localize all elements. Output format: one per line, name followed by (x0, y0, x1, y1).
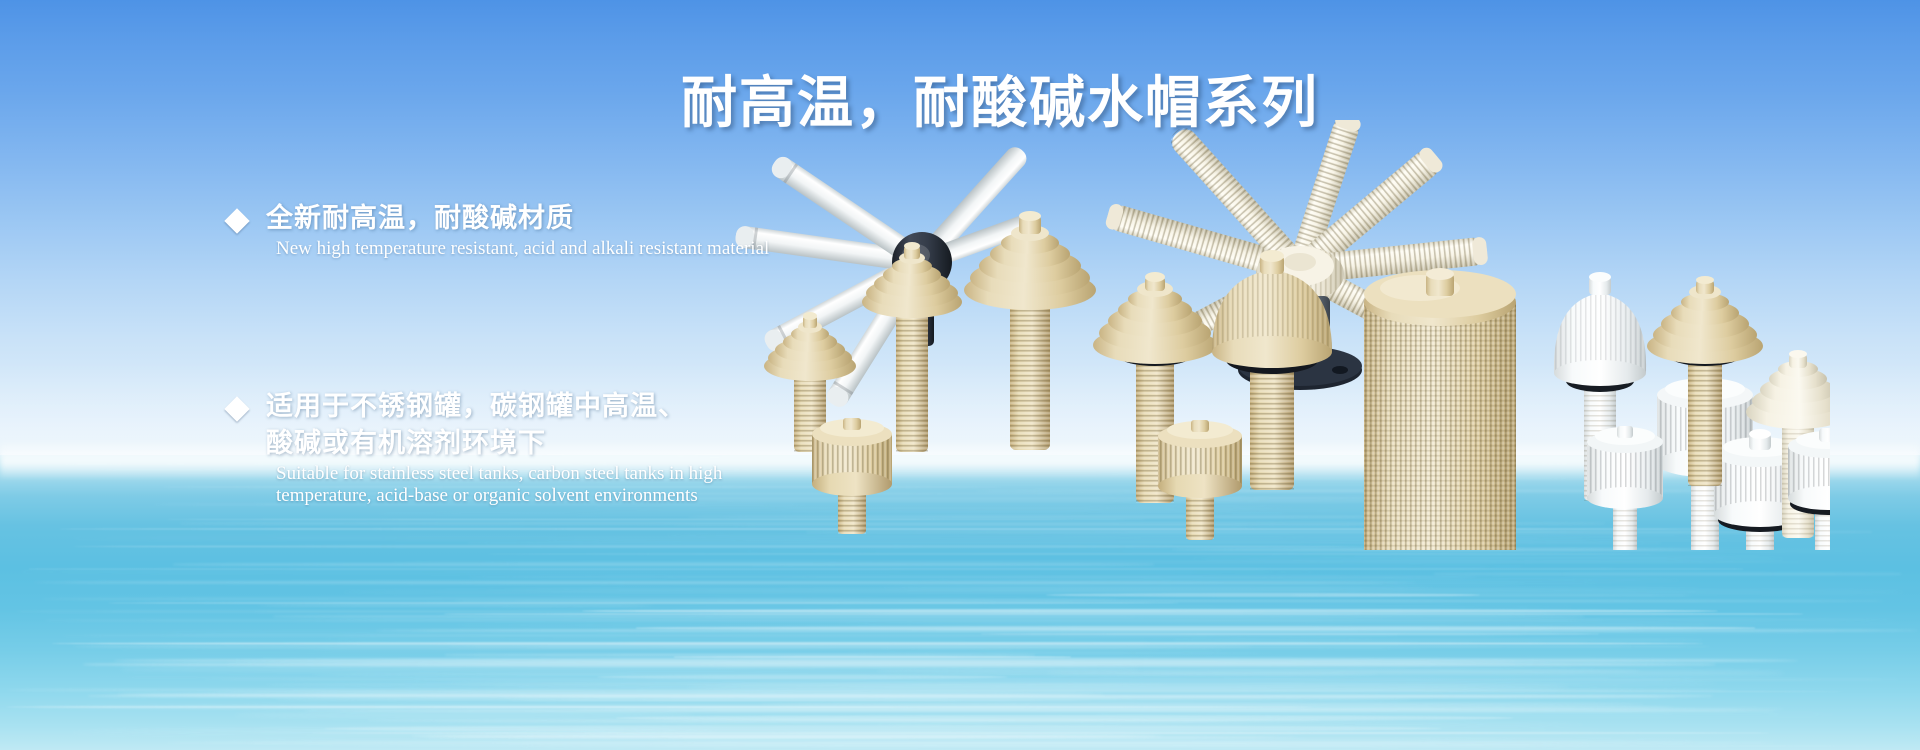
bullet-2-cn-block: 适用于不锈钢罐，碳钢罐中高温、 酸碱或有机溶剂环境下 (266, 388, 686, 462)
diamond-bullet-icon (224, 208, 249, 233)
bullet-2-en-line-1: Suitable for stainless steel tanks, carb… (276, 463, 722, 485)
bullet-1-en-block: New high temperature resistant, acid and… (276, 238, 769, 260)
bullet-2-en-line-2: temperature, acid-base or organic solven… (276, 485, 722, 507)
feature-bullet-2: 适用于不锈钢罐，碳钢罐中高温、 酸碱或有机溶剂环境下 Suitable for … (228, 388, 722, 507)
bullet-2-row: 适用于不锈钢罐，碳钢罐中高温、 酸碱或有机溶剂环境下 (228, 388, 722, 462)
product-filter-cylinder (1336, 268, 1544, 550)
product-cap-m (812, 418, 892, 534)
bullet-1-cn-line-1: 全新耐高温，耐酸碱材质 (266, 200, 574, 237)
bullet-1-en-line-1: New high temperature resistant, acid and… (276, 238, 769, 260)
feature-bullet-1: 全新耐高温，耐酸碱材质 New high temperature resista… (228, 200, 769, 260)
bullet-2-cn-line-1: 适用于不锈钢罐，碳钢罐中高温、 (266, 388, 686, 425)
diamond-bullet-icon (224, 396, 249, 421)
bullet-2-cn-line-2: 酸碱或有机溶剂环境下 (266, 425, 686, 462)
product-illustration (700, 120, 1830, 550)
product-cap-h (1587, 426, 1663, 550)
banner-title: 耐高温，耐酸碱水帽系列 (681, 58, 1319, 139)
product-banner: 耐高温，耐酸碱水帽系列 全新耐高温，耐酸碱材质 New high tempera… (0, 0, 1920, 750)
bullet-2-en-block: Suitable for stainless steel tanks, carb… (276, 463, 722, 507)
product-cap-n (1158, 420, 1242, 540)
product-cluster (700, 120, 1830, 540)
bullet-1-row: 全新耐高温，耐酸碱材质 (228, 200, 769, 237)
